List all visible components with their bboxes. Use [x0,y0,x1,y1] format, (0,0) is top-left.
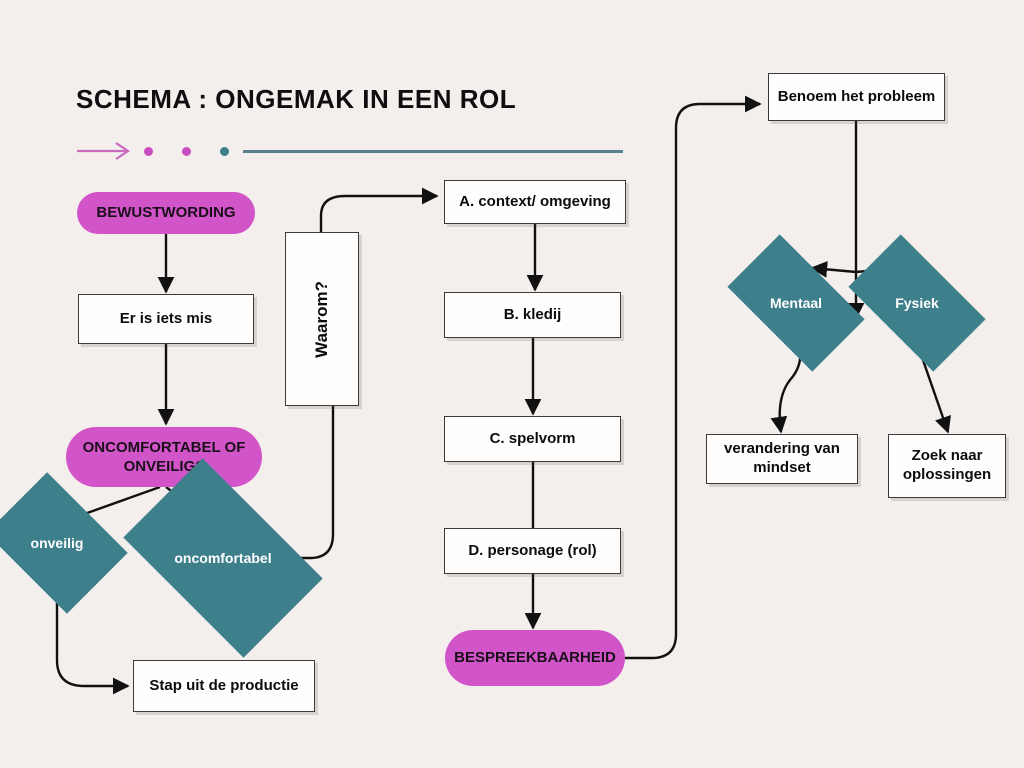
node-onveilig[interactable]: onveilig [0,500,114,586]
decorative-dot-3 [220,147,229,156]
node-label: BEWUSTWORDING [96,203,235,223]
node-bewustwording[interactable]: BEWUSTWORDING [77,192,255,234]
decorative-dot-2 [182,147,191,156]
node-label: Zoek naar oplossingen [897,447,997,485]
node-c-spelvorm[interactable]: C. spelvorm [444,416,621,462]
edge-bespreekbaarheid-to-benoem [625,104,760,658]
node-b-kledij[interactable]: B. kledij [444,292,621,338]
node-label: Waarom? [311,281,332,358]
node-mentaal[interactable]: Mentaal [736,266,856,340]
page-title: SCHEMA : ONGEMAK IN EEN ROL [76,84,516,115]
node-label: Stap uit de productie [149,677,298,696]
node-label: onveilig [31,535,84,552]
decorative-dot-1 [144,147,153,156]
node-waarom[interactable]: Waarom? [285,232,359,406]
node-fysiek[interactable]: Fysiek [857,266,977,340]
node-label: verandering van mindset [715,440,849,478]
node-a-context[interactable]: A. context/ omgeving [444,180,626,224]
node-er-is-iets-mis[interactable]: Er is iets mis [78,294,254,344]
edge-waarom-to-a-context [321,196,437,232]
node-benoem-het-probleem[interactable]: Benoem het probleem [768,73,945,121]
node-label: A. context/ omgeving [459,193,611,212]
node-stap-uit-de-productie[interactable]: Stap uit de productie [133,660,315,712]
node-label: Benoem het probleem [778,88,936,107]
node-label: BESPREEKBAARHEID [454,648,616,668]
node-label: C. spelvorm [490,430,576,449]
diagram-canvas: SCHEMA : ONGEMAK IN EEN ROL [0,0,1024,768]
node-oncomfortabel[interactable]: oncomfortabel [138,502,308,614]
node-label: oncomfortabel [174,550,271,567]
arrow-right-icon [76,141,132,161]
node-oncomfortabel-of-onveilig[interactable]: ONCOMFORTABEL OF ONVEILIG? [66,427,262,487]
node-verandering-van-mindset[interactable]: verandering van mindset [706,434,858,484]
node-d-personage[interactable]: D. personage (rol) [444,528,621,574]
node-label: Fysiek [895,295,939,312]
node-label: D. personage (rol) [468,542,596,561]
node-label: ONCOMFORTABEL OF ONVEILIG? [80,438,248,477]
node-bespreekbaarheid[interactable]: BESPREEKBAARHEID [445,630,625,686]
node-zoek-naar-oplossingen[interactable]: Zoek naar oplossingen [888,434,1006,498]
node-label: Mentaal [770,295,822,312]
node-label: B. kledij [504,306,562,325]
node-label: Er is iets mis [120,310,213,329]
decorative-rule [243,150,623,153]
